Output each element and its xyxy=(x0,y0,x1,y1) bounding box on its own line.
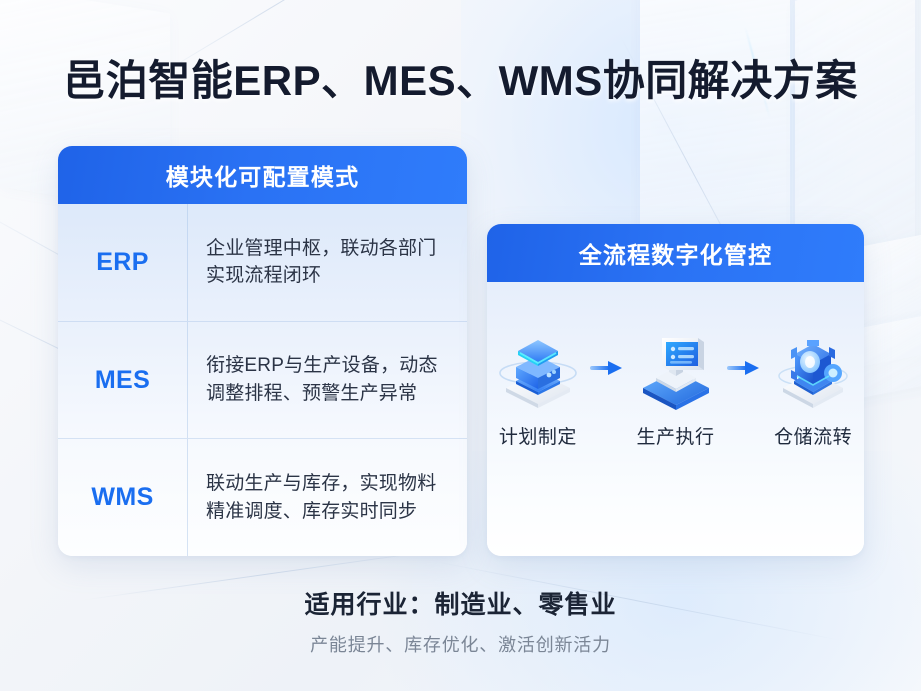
desktop-monitor-icon xyxy=(632,326,720,410)
table-row[interactable]: MES 衔接ERP与生产设备，动态调整排程、预警生产异常 xyxy=(58,322,467,440)
footer-industries: 适用行业：制造业、零售业 xyxy=(0,585,921,621)
modular-config-card-header: 模块化可配置模式 xyxy=(58,146,467,204)
digital-control-card-header: 全流程数字化管控 xyxy=(487,224,864,282)
arrow-right-icon xyxy=(726,326,762,410)
footer-benefits: 产能提升、库存优化、激活创新活力 xyxy=(0,631,921,657)
process-flow: 计划制定 xyxy=(487,326,864,449)
footer: 适用行业：制造业、零售业 产能提升、库存优化、激活创新活力 xyxy=(0,585,921,657)
row-value-mes: 衔接ERP与生产设备，动态调整排程、预警生产异常 xyxy=(188,352,467,407)
gear-cog-icon xyxy=(769,326,857,410)
flow-step-label-execute: 生产执行 xyxy=(637,422,715,449)
modular-config-card: 模块化可配置模式 ERP 企业管理中枢，联动各部门实现流程闭环 MES 衔接ER… xyxy=(58,146,467,556)
page-title: 邑泊智能ERP、MES、WMS协同解决方案 xyxy=(0,47,921,108)
digital-control-card: 全流程数字化管控 xyxy=(487,224,864,556)
modular-config-card-body: ERP 企业管理中枢，联动各部门实现流程闭环 MES 衔接ERP与生产设备，动态… xyxy=(58,204,467,556)
row-key-wms: WMS xyxy=(58,439,188,556)
flow-step-label-warehouse: 仓储流转 xyxy=(774,422,852,449)
flow-step-plan[interactable]: 计划制定 xyxy=(487,326,589,449)
digital-control-card-body: 计划制定 xyxy=(487,282,864,556)
arrow-right-icon xyxy=(589,326,625,410)
row-key-mes: MES xyxy=(58,322,188,439)
table-row[interactable]: ERP 企业管理中枢，联动各部门实现流程闭环 xyxy=(58,204,467,322)
row-key-erp: ERP xyxy=(58,204,188,321)
row-value-erp: 企业管理中枢，联动各部门实现流程闭环 xyxy=(188,235,467,290)
row-value-wms: 联动生产与库存，实现物料精准调度、库存实时同步 xyxy=(188,470,467,525)
flow-step-label-plan: 计划制定 xyxy=(499,422,577,449)
flow-step-warehouse[interactable]: 仓储流转 xyxy=(762,326,864,449)
table-row[interactable]: WMS 联动生产与库存，实现物料精准调度、库存实时同步 xyxy=(58,439,467,556)
database-stack-icon xyxy=(494,326,582,410)
flow-step-execute[interactable]: 生产执行 xyxy=(625,326,727,449)
